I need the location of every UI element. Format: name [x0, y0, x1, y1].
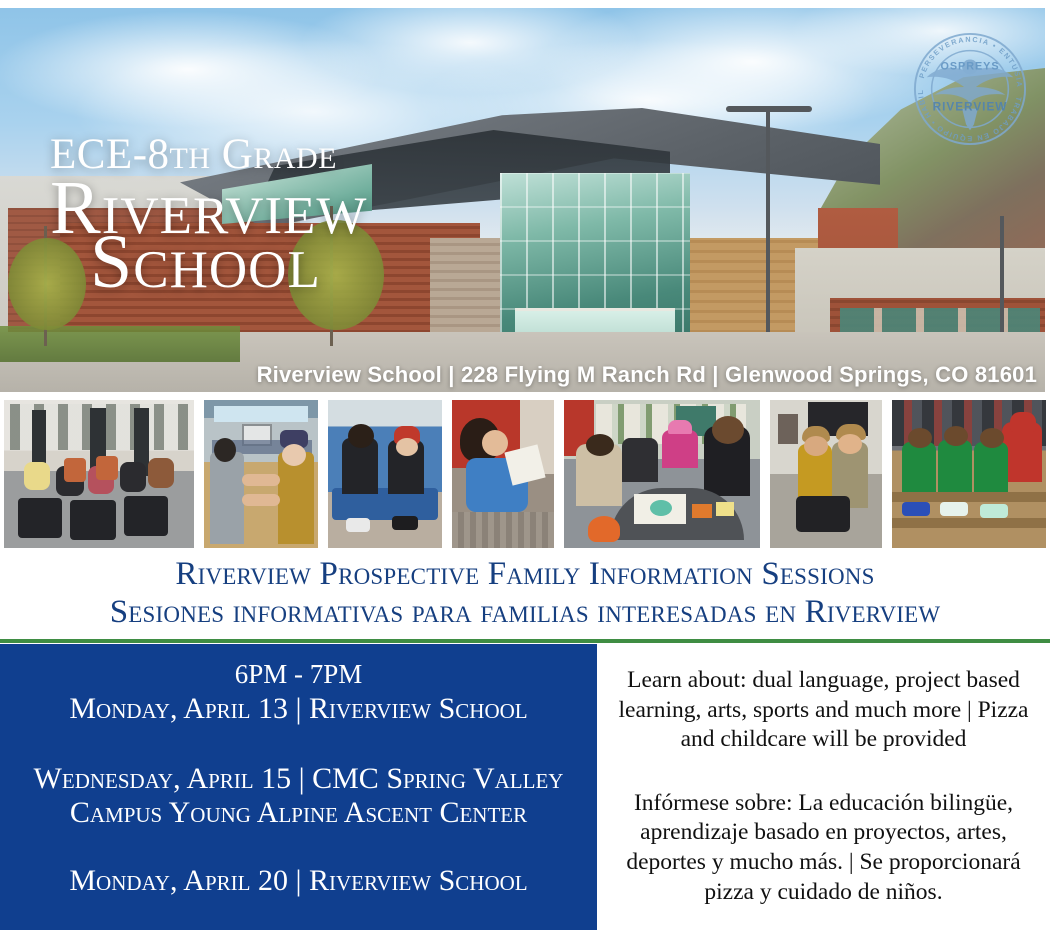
sessions-spacer-2 [0, 831, 597, 863]
photo-scene [892, 400, 1046, 548]
headline-english: Riverview Prospective Family Information… [0, 556, 1050, 594]
riverview-ospreys-seal-logo: PERSEVERANCIA • ENTUSIASMO • COMPASIÓN T… [911, 30, 1029, 148]
lamp-arm [726, 106, 812, 112]
photo-group-project-table [564, 400, 760, 548]
hero-grass [0, 326, 240, 362]
photo-strip [0, 400, 1050, 548]
svg-text:RIVERVIEW: RIVERVIEW [933, 100, 1008, 114]
photo-two-students-leopard-hats [770, 400, 882, 548]
photo-scene [328, 400, 442, 548]
svg-text:OSPREYS: OSPREYS [940, 60, 999, 72]
sessions-spacer-1 [0, 727, 597, 761]
info-panel: Learn about: dual language, project base… [597, 644, 1050, 930]
session-item-1: Monday, April 13 | Riverview School [0, 691, 597, 727]
sessions-list: 6PM - 7PM Monday, April 13 | Riverview S… [0, 644, 597, 899]
sessions-panel: 6PM - 7PM Monday, April 13 | Riverview S… [0, 644, 597, 930]
photo-gym-handshake [204, 400, 318, 548]
hero-title-block: ECE-8th Grade Riverview School [50, 133, 367, 300]
photo-scene [564, 400, 760, 548]
info-text-english: Learn about: dual language, project base… [597, 666, 1050, 755]
photo-student-reading-beanbag [452, 400, 554, 548]
session-time: 6PM - 7PM [0, 658, 597, 690]
hero-address-line: Riverview School | 228 Flying M Ranch Rd… [257, 362, 1037, 388]
session-item-2-line-2: Campus Young Alpine Ascent Center [0, 795, 597, 831]
info-text-spanish: Infórmese sobre: La educación bilingüe, … [597, 789, 1050, 907]
poster-root: PERSEVERANCIA • ENTUSIASMO • COMPASIÓN T… [0, 0, 1050, 930]
green-divider-rule [0, 639, 1050, 643]
photo-scene [452, 400, 554, 548]
photo-scene [204, 400, 318, 548]
headline-spanish: Sesiones informativas para familias inte… [0, 594, 1050, 632]
photo-soccer-team-bleachers [892, 400, 1046, 548]
hero-banner: PERSEVERANCIA • ENTUSIASMO • COMPASIÓN T… [0, 8, 1045, 392]
photo-scene [4, 400, 194, 548]
session-item-2-line-1: Wednesday, April 15 | CMC Spring Valley [0, 761, 597, 797]
photo-scene [770, 400, 882, 548]
session-headline: Riverview Prospective Family Information… [0, 556, 1050, 631]
session-item-3: Monday, April 20 | Riverview School [0, 863, 597, 899]
photo-drum-circle-classroom [4, 400, 194, 548]
photo-students-on-blue-bench [328, 400, 442, 548]
